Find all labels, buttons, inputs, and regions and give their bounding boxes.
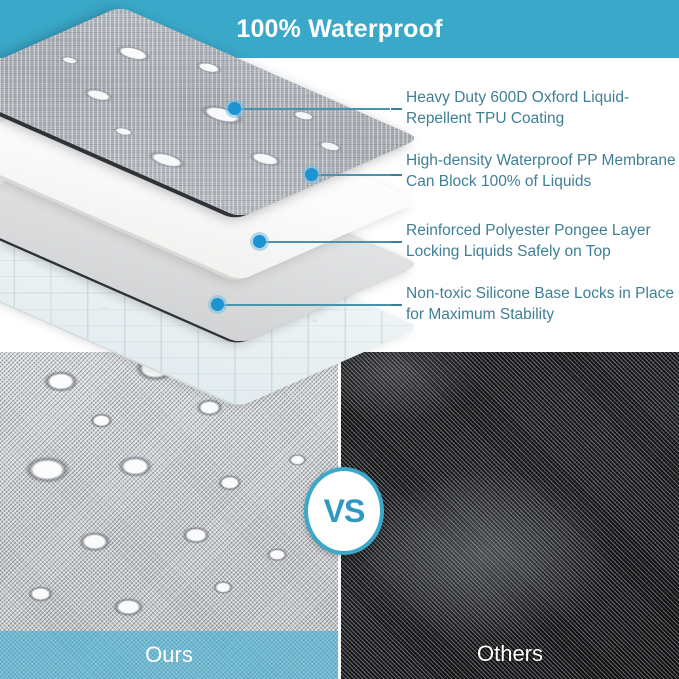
page-title: 100% Waterproof [236,15,442,44]
layer-diagram-section: Heavy Duty 600D Oxford Liquid-Repellent … [0,58,679,352]
annotation-silicone: Non-toxic Silicone Base Locks in Place f… [406,284,679,326]
others-fabric-panel: Others [341,352,679,679]
callout-line-membrane [317,174,391,176]
callout-dot-oxford [228,102,241,115]
callout-dot-silicone [211,298,224,311]
callout-line-oxford [240,108,390,110]
ours-label-band: Ours [0,631,338,679]
annotation-membrane: High-density Waterproof PP Membrane Can … [406,151,679,193]
callout-line-pongee [265,241,391,243]
annotation-pongee: Reinforced Polyester Pongee Layer Lockin… [406,221,679,263]
annotation-dash-silicone [391,304,402,306]
annotation-dash-membrane [391,174,402,176]
vs-label: VS [324,493,365,530]
annotation-dash-pongee [391,241,402,243]
annotation-dash-oxford [391,108,402,110]
annotation-oxford: Heavy Duty 600D Oxford Liquid-Repellent … [406,88,679,130]
callout-line-silicone [223,304,391,306]
others-label: Others [341,641,679,667]
callout-dot-pongee [253,235,266,248]
ours-fabric-panel: Ours [0,352,338,679]
ours-label: Ours [145,642,193,668]
callout-dot-membrane [305,168,318,181]
vs-badge: VS [304,467,384,555]
